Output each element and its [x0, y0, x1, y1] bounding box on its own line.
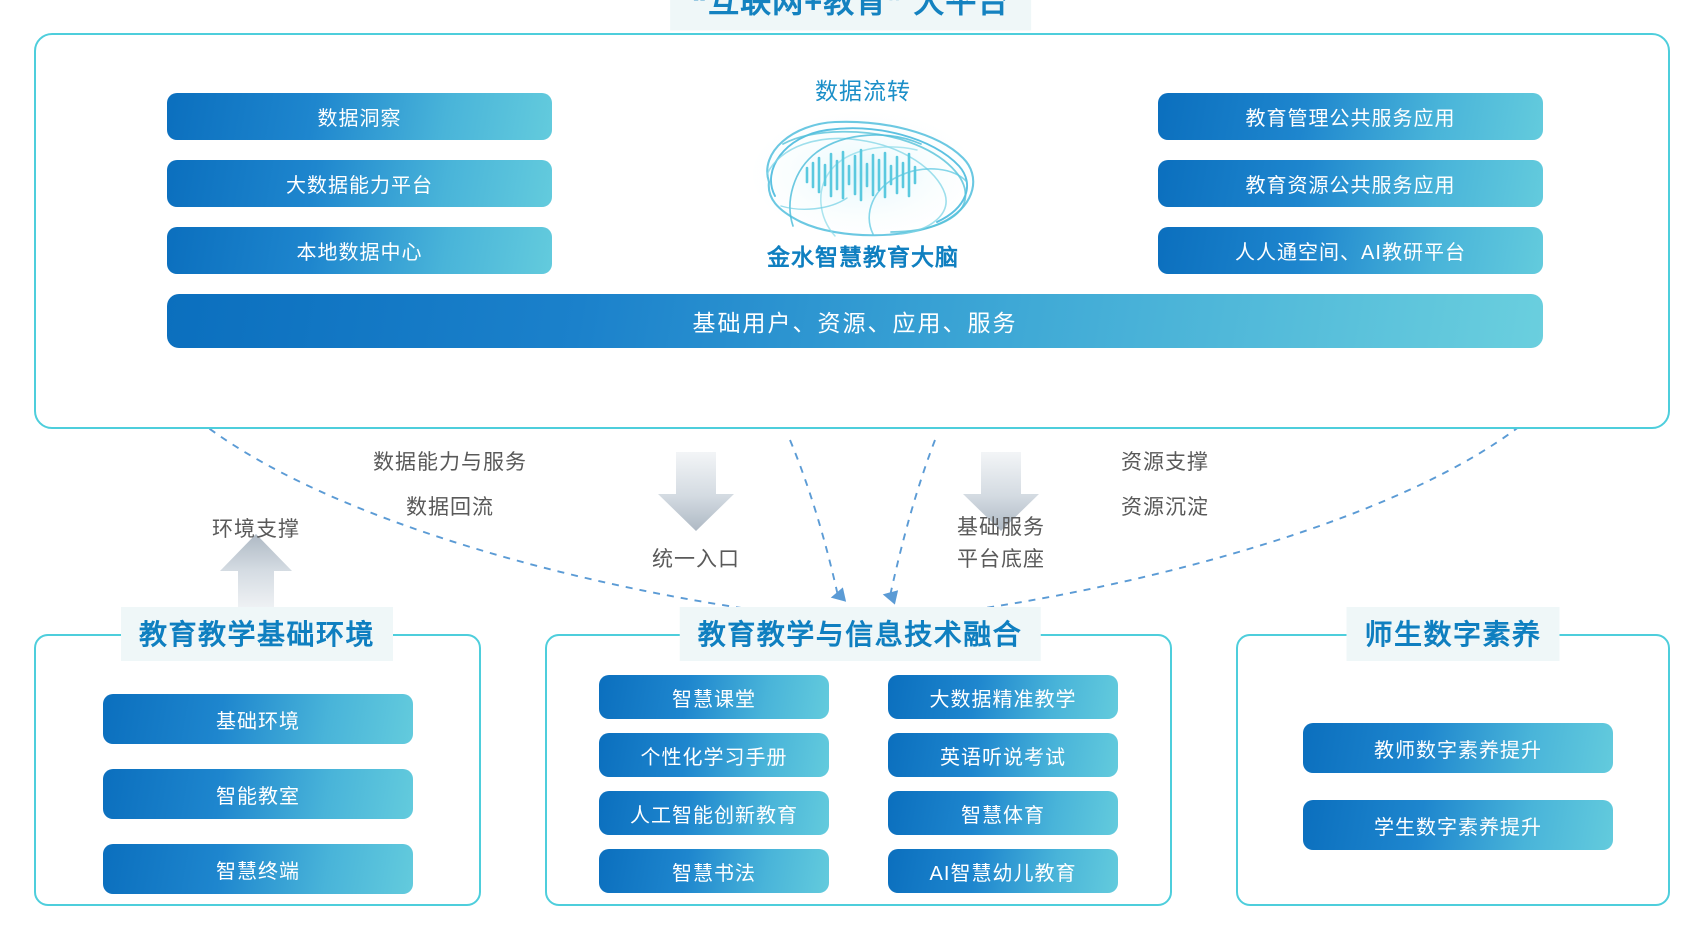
pill-local-data-center[interactable]: 本地数据中心: [167, 227, 552, 274]
pill-edu-resource-service[interactable]: 教育资源公共服务应用: [1158, 160, 1543, 207]
panel-title-teaching-it-fusion: 教育教学与信息技术融合: [680, 607, 1041, 661]
pill-label: 学生数字素养提升: [1374, 811, 1542, 840]
pill-renren-ai-research[interactable]: 人人通空间、AI教研平台: [1158, 227, 1543, 274]
pill-label: 智慧课堂: [672, 683, 756, 712]
flow-label-base-service: 基础服务: [941, 513, 1061, 543]
flow-label-resource-deposit: 资源沉淀: [1085, 493, 1245, 523]
pill-smart-sports[interactable]: 智慧体育: [888, 791, 1118, 835]
pill-label: 人人通空间、AI教研平台: [1235, 236, 1466, 265]
pill-label: 智能教室: [216, 780, 300, 809]
pill-smart-terminal[interactable]: 智慧终端: [103, 844, 413, 894]
pill-label: 智慧终端: [216, 855, 300, 884]
pill-label: AI智慧幼儿教育: [930, 857, 1077, 886]
dashed-arrow-into-panel-left: [790, 440, 838, 596]
flow-label-resource-support: 资源支撑: [1085, 448, 1245, 478]
pill-basic-environment[interactable]: 基础环境: [103, 694, 413, 744]
pill-label: 教育资源公共服务应用: [1246, 169, 1456, 198]
pill-ai-early-childhood-education[interactable]: AI智慧幼儿教育: [888, 849, 1118, 893]
panel-title-digital-literacy: 师生数字素养: [1346, 607, 1559, 661]
page-title: “互联网+教育” 大平台: [670, 0, 1032, 31]
pill-label: 教育管理公共服务应用: [1246, 102, 1456, 131]
pill-label: 智慧体育: [961, 799, 1045, 828]
pill-personalized-learning-manual[interactable]: 个性化学习手册: [599, 733, 829, 777]
flow-label-environment-support: 环境支撑: [186, 515, 326, 545]
pill-label: 大数据精准教学: [930, 683, 1077, 712]
brain-caption-top: 数据流转: [723, 72, 1003, 106]
pill-english-listening-speaking-exam[interactable]: 英语听说考试: [888, 733, 1118, 777]
diagram-canvas: “互联网+教育” 大平台 数据洞察 大数据能力平台 本地数据中心 教育管理公共服…: [0, 0, 1701, 936]
pill-data-insight[interactable]: 数据洞察: [167, 93, 552, 140]
pill-smart-classroom-device[interactable]: 智能教室: [103, 769, 413, 819]
pill-label: 教师数字素养提升: [1374, 734, 1542, 763]
flow-label-unified-entry: 统一入口: [626, 545, 766, 575]
brain-icon: [723, 108, 1003, 240]
pill-label: 本地数据中心: [297, 236, 423, 265]
pill-student-digital-literacy[interactable]: 学生数字素养提升: [1303, 800, 1613, 850]
pill-label: 数据洞察: [318, 102, 402, 131]
arrow-up-icon-environment-support: [220, 534, 292, 614]
brain-caption-bottom: 金水智慧教育大脑: [723, 238, 1003, 272]
panel-title-basic-environment: 教育教学基础环境: [121, 607, 393, 661]
pill-label: 大数据能力平台: [286, 169, 433, 198]
brain-module: 数据流转: [723, 72, 1003, 272]
pill-bigdata-platform[interactable]: 大数据能力平台: [167, 160, 552, 207]
dashed-arrow-into-panel-right: [890, 440, 935, 596]
pill-ai-innovation-education[interactable]: 人工智能创新教育: [599, 791, 829, 835]
pill-label: 基础环境: [216, 705, 300, 734]
pill-label: 英语听说考试: [940, 741, 1066, 770]
pill-label: 智慧书法: [672, 857, 756, 886]
pill-label: 个性化学习手册: [641, 741, 788, 770]
pill-bigdata-precision-teaching[interactable]: 大数据精准教学: [888, 675, 1118, 719]
pill-smart-calligraphy[interactable]: 智慧书法: [599, 849, 829, 893]
flow-label-platform-base: 平台底座: [941, 545, 1061, 575]
pill-foundation-bar[interactable]: 基础用户、资源、应用、服务: [167, 294, 1543, 348]
flow-label-data-capability: 数据能力与服务: [340, 448, 560, 478]
pill-smart-classroom[interactable]: 智慧课堂: [599, 675, 829, 719]
pill-label: 人工智能创新教育: [630, 799, 798, 828]
pill-teacher-digital-literacy[interactable]: 教师数字素养提升: [1303, 723, 1613, 773]
arrow-down-icon-unified-entry: [658, 452, 734, 531]
pill-edu-management-service[interactable]: 教育管理公共服务应用: [1158, 93, 1543, 140]
pill-label: 基础用户、资源、应用、服务: [693, 304, 1018, 338]
flow-label-data-return: 数据回流: [340, 493, 560, 523]
